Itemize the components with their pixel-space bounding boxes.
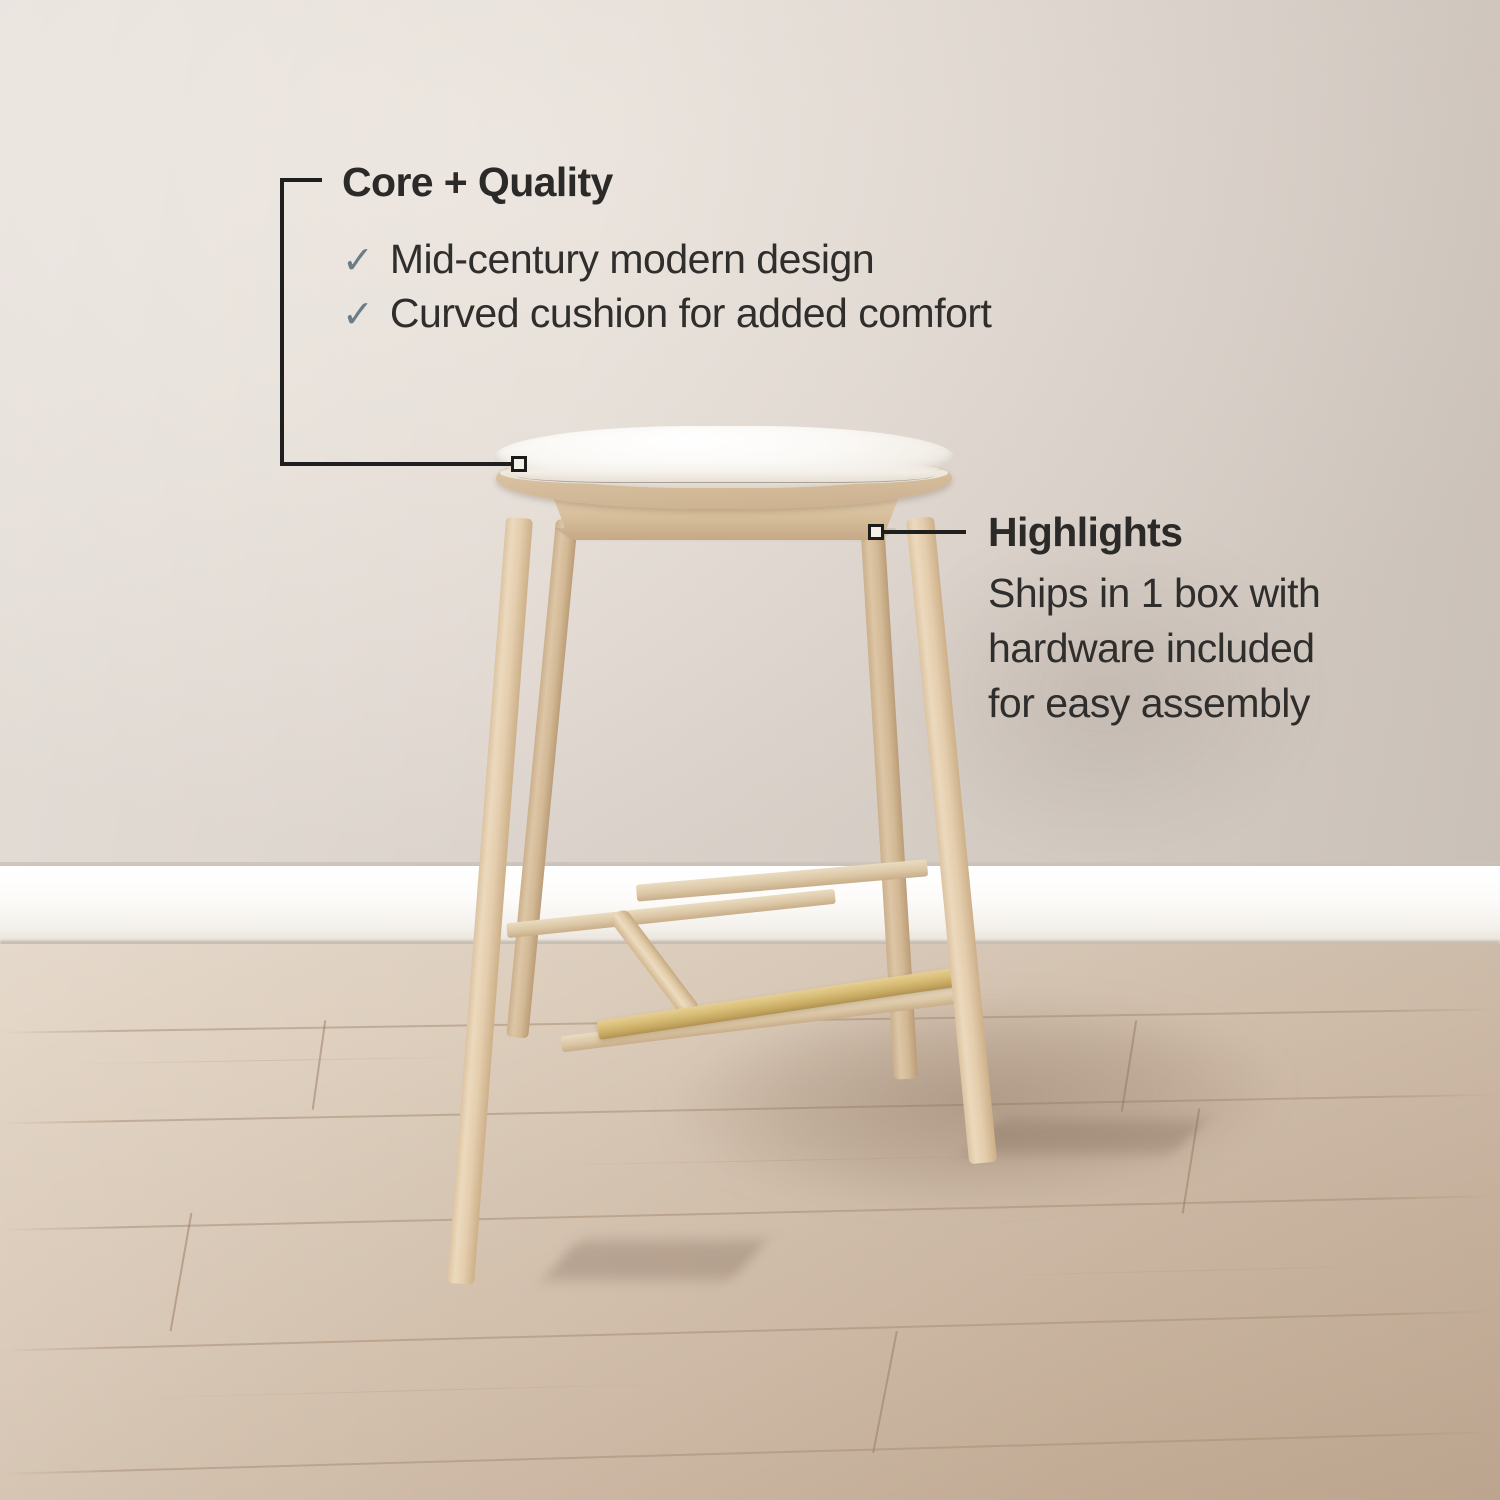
center-dowel — [608, 907, 701, 1021]
stool-leg-front-right — [906, 517, 997, 1165]
core-quality-leader-horizontal — [280, 462, 516, 466]
highlights-line: hardware included — [988, 628, 1320, 669]
check-icon: ✓ — [342, 242, 374, 280]
highlights-title: Highlights — [988, 512, 1320, 553]
product-infographic: Core + Quality ✓ Mid-century modern desi… — [0, 0, 1500, 1500]
callout-core-quality: Core + Quality ✓ Mid-century modern desi… — [342, 162, 991, 334]
core-quality-bullet-label: Curved cushion for added comfort — [390, 293, 992, 334]
core-quality-leader-vertical — [280, 178, 284, 466]
core-quality-bullet-label: Mid-century modern design — [390, 239, 874, 280]
check-icon: ✓ — [342, 296, 374, 334]
highlights-leader-horizontal — [884, 530, 966, 534]
core-quality-leader-stub — [280, 178, 322, 182]
core-quality-title: Core + Quality — [342, 162, 991, 203]
highlights-body: Ships in 1 box with hardware included fo… — [988, 573, 1320, 724]
cushion-seam — [516, 468, 934, 483]
core-quality-bullet: ✓ Mid-century modern design — [342, 239, 991, 280]
highlights-line: for easy assembly — [988, 683, 1320, 724]
callout-highlights: Highlights Ships in 1 box with hardware … — [988, 512, 1320, 724]
core-quality-bullet: ✓ Curved cushion for added comfort — [342, 293, 991, 334]
highlights-line: Ships in 1 box with — [988, 573, 1320, 614]
core-quality-marker-square — [511, 456, 527, 472]
highlights-marker-square — [868, 524, 884, 540]
